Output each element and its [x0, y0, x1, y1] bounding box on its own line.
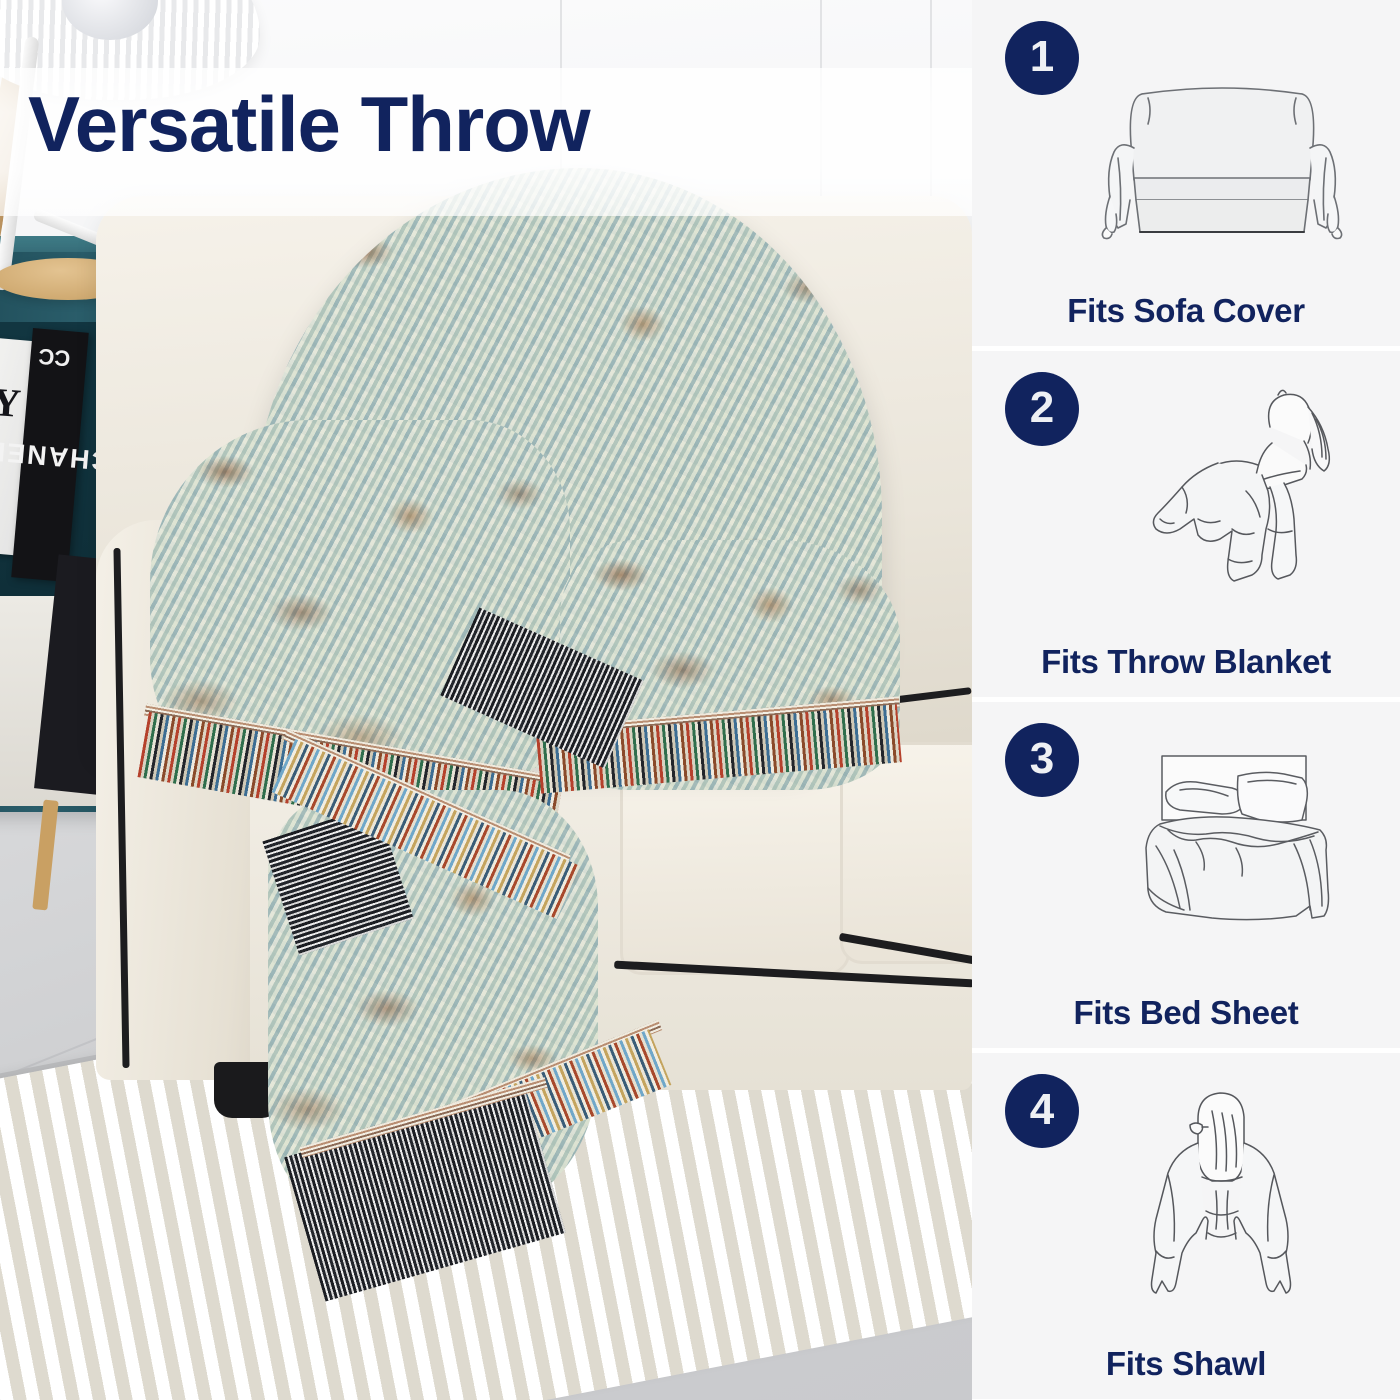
use-case-label-4: Fits Shawl: [972, 1345, 1400, 1383]
use-case-label-2: Fits Throw Blanket: [972, 643, 1400, 681]
sofa-cover-icon: [1056, 28, 1386, 266]
person-with-blanket-icon: [1056, 379, 1386, 617]
use-case-card-2[interactable]: 2: [972, 351, 1400, 697]
use-cases-rail: 1: [972, 0, 1400, 1400]
person-wearing-shawl-icon: [1056, 1081, 1386, 1319]
ysl-monogram: Y: [0, 378, 17, 427]
use-case-card-4[interactable]: 4: [972, 1053, 1400, 1399]
infographic-stage: Y CC CHANEL: [0, 0, 1400, 1400]
sofa-cushion: [620, 760, 850, 975]
chanel-logo-mark: CC: [37, 343, 71, 372]
page-title: Versatile Throw: [28, 78, 590, 172]
use-case-card-3[interactable]: 3: [972, 702, 1400, 1048]
product-lifestyle-photo: Y CC CHANEL: [0, 0, 972, 1400]
use-case-label-3: Fits Bed Sheet: [972, 994, 1400, 1032]
bed-with-duvet-icon: [1056, 730, 1386, 968]
use-case-label-1: Fits Sofa Cover: [972, 292, 1400, 330]
use-case-card-1[interactable]: 1: [972, 0, 1400, 346]
